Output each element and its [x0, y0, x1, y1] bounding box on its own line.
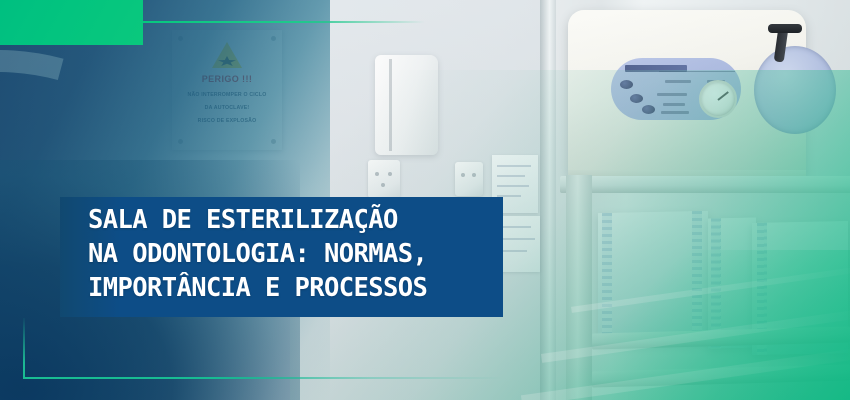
- banner: PERIGO !!! NÃO INTERROMPER O CICLO DA AU…: [0, 0, 850, 400]
- corner-frame-vertical: [23, 318, 25, 378]
- page-title: SALA DE ESTERILIZAÇÃO NA ODONTOLOGIA: NO…: [88, 203, 498, 305]
- green-accent-block: [0, 0, 143, 45]
- corner-frame-horizontal: [23, 377, 503, 379]
- green-accent-rule: [143, 21, 425, 23]
